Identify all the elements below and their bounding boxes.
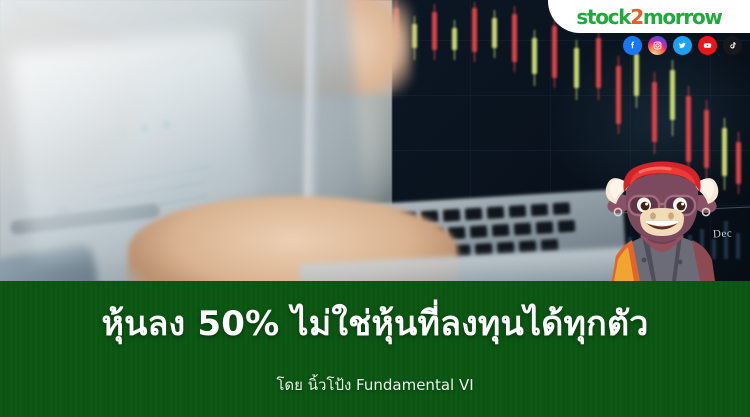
article-banner: Dec (0, 0, 750, 417)
logo-part-stock: stock (576, 7, 630, 27)
article-headline: หุ้นลง 50% ไม่ใช่หุ้นที่ลงทุนได้ทุกตัว (0, 305, 750, 344)
youtube-icon[interactable] (698, 36, 717, 55)
twitter-icon[interactable] (673, 36, 692, 55)
title-banner: หุ้นลง 50% ไม่ใช่หุ้นที่ลงทุนได้ทุกตัว โ… (0, 281, 750, 417)
tiktok-icon[interactable] (723, 36, 742, 55)
instagram-icon[interactable] (648, 36, 667, 55)
facebook-icon[interactable] (623, 36, 642, 55)
logo-part-morrow: morrow (643, 7, 722, 27)
brand-logo-badge[interactable]: stock2morrow (548, 0, 750, 33)
social-links (623, 36, 742, 55)
bull-mascot (596, 148, 728, 281)
brand-logo-text: stock2morrow (576, 7, 721, 27)
hero-photo: Dec (0, 0, 750, 281)
article-byline: โดย นิ้วโป้ง Fundamental VI (0, 373, 750, 397)
logo-part-2: 2 (630, 7, 643, 27)
